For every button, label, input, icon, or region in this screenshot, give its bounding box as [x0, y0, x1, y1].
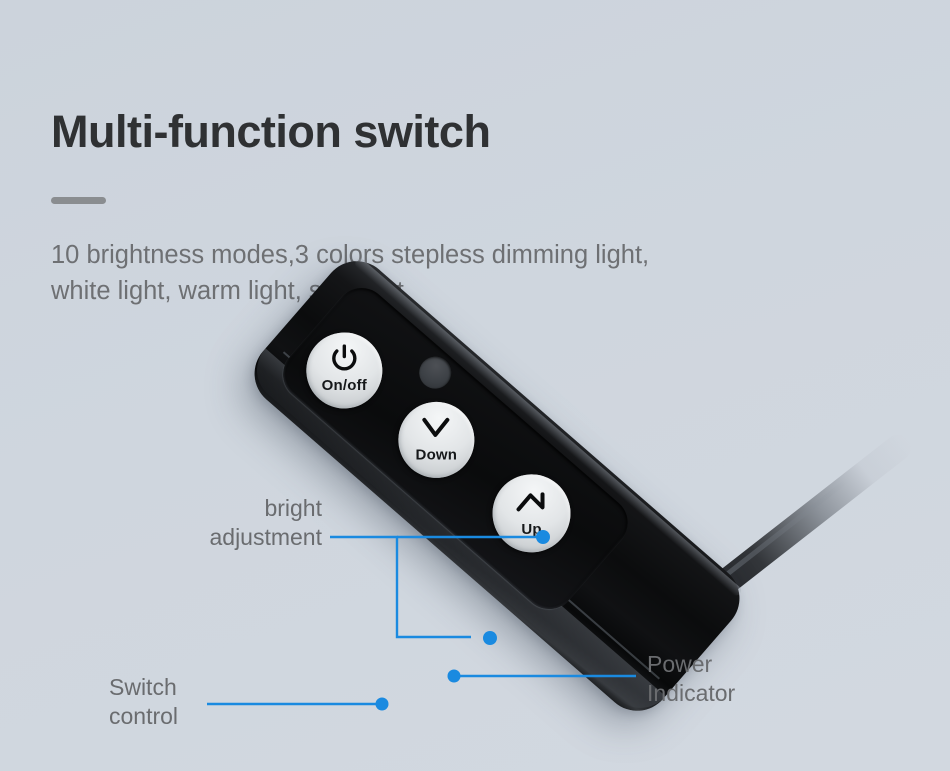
product-feature-slide: Multi-function switch 10 brightness mode…: [0, 0, 950, 771]
up-button[interactable]: Up: [476, 458, 586, 568]
callout-switch-line-2: control: [109, 702, 178, 731]
chevron-down-icon: [420, 417, 452, 439]
callout-power-line-1: Power: [647, 650, 735, 679]
down-button[interactable]: Down: [383, 386, 490, 493]
onoff-button[interactable]: On/off: [291, 317, 398, 424]
callout-power-line-2: Indicator: [647, 679, 735, 708]
callout-switch-control: Switch control: [109, 673, 178, 732]
callout-power-indicator: Power Indicator: [647, 650, 735, 709]
subtitle-line-2: white light, warm light, soft light: [51, 274, 841, 309]
page-title: Multi-function switch: [51, 107, 881, 157]
down-button-label: Down: [416, 447, 458, 464]
subtitle: 10 brightness modes,3 colors stepless di…: [51, 238, 841, 308]
header-block: Multi-function switch 10 brightness mode…: [51, 107, 881, 309]
power-indicator-led: [413, 350, 458, 395]
up-button-label: Up: [521, 520, 541, 537]
callout-bright-line-2: adjustment: [20, 523, 322, 552]
chevron-up-icon: [516, 490, 548, 512]
power-icon: [331, 344, 357, 372]
subtitle-line-1: 10 brightness modes,3 colors stepless di…: [51, 238, 841, 273]
callout-switch-line-1: Switch: [109, 673, 178, 702]
button-panel: Up Down: [272, 277, 638, 619]
onoff-button-label: On/off: [322, 377, 367, 394]
title-divider: [51, 197, 106, 204]
callout-bright-line-1: bright: [20, 494, 322, 523]
callout-bright-adjustment: bright adjustment: [20, 494, 322, 553]
